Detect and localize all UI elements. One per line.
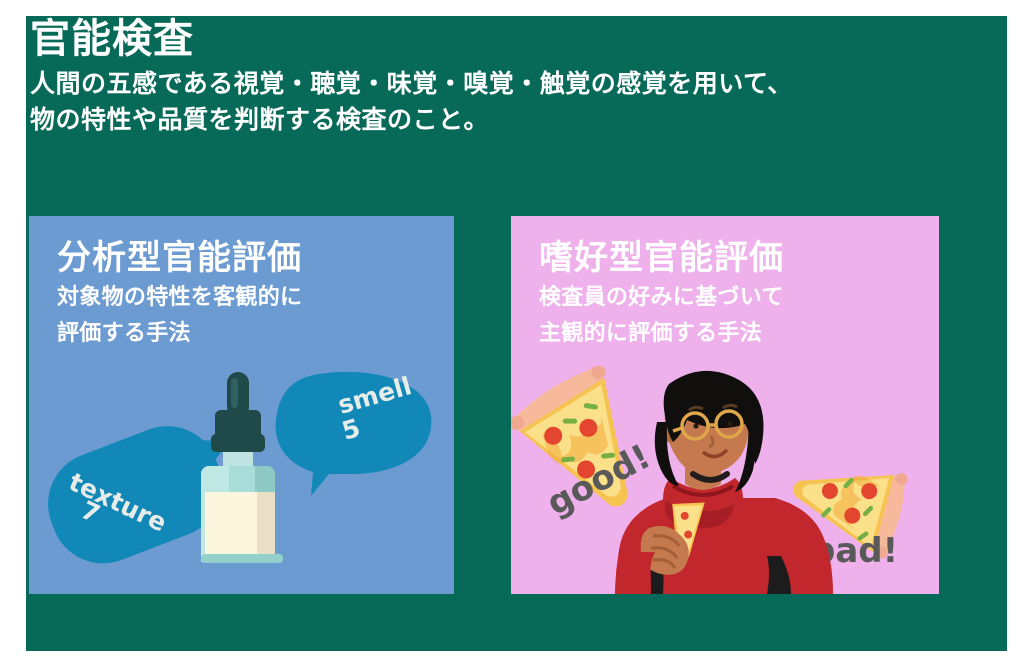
card-preference-desc-line-1: 検査員の好みに基づいて [511,277,939,313]
analytical-illustration: smell 5 texture 7 [29,366,454,594]
card-preference[interactable]: 嗜好型官能評価 検査員の好みに基づいて 主観的に評価する手法 go [511,216,939,594]
card-analytical-title: 分析型官能評価 [29,216,454,277]
slide-canvas: 官能検査 人間の五感である視覚・聴覚・味覚・嗅覚・触覚の感覚を用いて、 物の特性… [0,0,1024,672]
card-analytical[interactable]: 分析型官能評価 対象物の特性を客観的に 評価する手法 smell 5 textu… [29,216,454,594]
card-analytical-desc-line-1: 対象物の特性を客観的に [29,277,454,313]
card-analytical-desc-line-2: 評価する手法 [29,313,454,349]
page-title: 官能検査 [30,18,950,60]
card-preference-desc-line-2: 主観的に評価する手法 [511,313,939,349]
dropper-bottle-icon [201,372,283,563]
slide-subtitle-line-1: 人間の五感である視覚・聴覚・味覚・嗅覚・触覚の感覚を用いて、 [30,66,950,102]
preference-illustration: good! bad! [511,366,939,594]
card-preference-title: 嗜好型官能評価 [511,216,939,277]
slide-subtitle-line-2: 物の特性や品質を判断する検査のこと。 [30,102,950,138]
slide-header: 官能検査 人間の五感である視覚・聴覚・味覚・嗅覚・触覚の感覚を用いて、 物の特性… [30,18,950,139]
smell-bubble: smell 5 [276,371,432,496]
